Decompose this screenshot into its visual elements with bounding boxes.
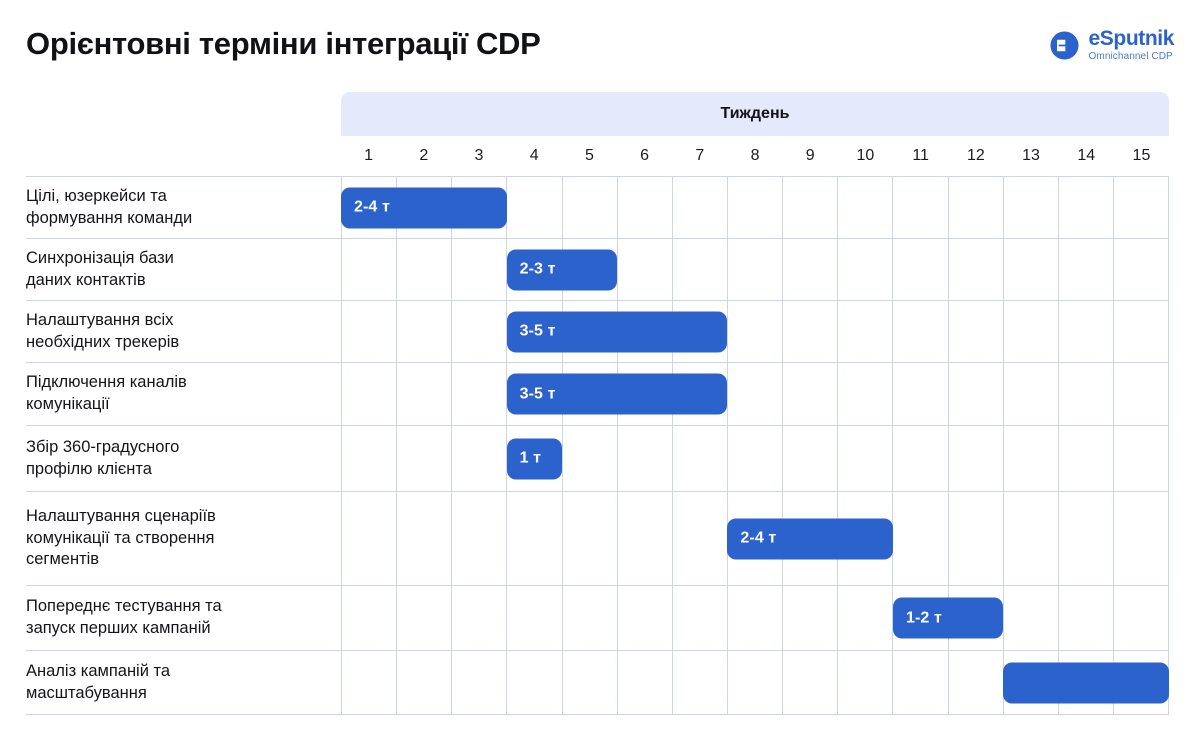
task-row-label: Налаштування сценаріївкомунікації та ств… <box>26 491 341 585</box>
grid-cell <box>949 239 1004 300</box>
task-label: Аналіз кампаній тамасштабування <box>26 661 170 705</box>
grid-cell <box>397 426 452 491</box>
grid-cell <box>1114 586 1169 650</box>
grid-cell <box>1004 492 1059 585</box>
grid-cell <box>673 651 728 714</box>
grid-cell <box>949 363 1004 425</box>
grid-cell <box>618 586 673 650</box>
grid-cell <box>728 363 783 425</box>
week-tick-cells: 123456789101112131415 <box>341 136 1169 176</box>
week-tick-4: 4 <box>507 136 562 176</box>
brand-name: eSputnik <box>1089 28 1174 49</box>
grid-cell <box>507 492 562 585</box>
gantt-row: 1-2 т <box>341 585 1169 650</box>
task-label-line: Налаштування всіх <box>26 310 179 332</box>
grid-cell <box>838 239 893 300</box>
gantt-bar[interactable]: 1 т <box>507 438 562 479</box>
task-label-column: Цілі, юзеркейси таформування командиСинх… <box>26 176 341 715</box>
grid-cell <box>1114 426 1169 491</box>
task-label: Збір 360-градусногопрофілю клієнта <box>26 437 179 481</box>
grid-lines <box>341 586 1169 650</box>
grid-cell <box>507 651 562 714</box>
task-row-label: Синхронізація базиданих контактів <box>26 238 341 300</box>
grid-cell <box>838 651 893 714</box>
gantt-row: 2-4 т <box>341 176 1169 238</box>
gantt-bar-label: 2-4 т <box>740 530 776 548</box>
page-title: Орієнтовні терміни інтеграції CDP <box>26 26 541 62</box>
gantt-row: 3-5 т <box>341 300 1169 362</box>
grid-cell <box>563 177 618 238</box>
grid-cell <box>341 492 397 585</box>
grid-cell <box>1114 363 1169 425</box>
task-label-line: Попереднє тестування та <box>26 596 222 618</box>
grid-cell <box>949 651 1004 714</box>
grid-cell <box>618 177 673 238</box>
grid-cell <box>783 239 838 300</box>
gantt-bar-label: 2-4 т <box>354 199 390 217</box>
grid-cell <box>949 426 1004 491</box>
gantt-header-row: Тиждень <box>26 92 1169 136</box>
grid-cell <box>1004 301 1059 362</box>
grid-cell <box>728 586 783 650</box>
grid-lines <box>341 426 1169 491</box>
grid-lines <box>341 301 1169 362</box>
grid-cell <box>838 586 893 650</box>
week-tick-5: 5 <box>562 136 617 176</box>
task-label: Цілі, юзеркейси таформування команди <box>26 186 192 230</box>
grid-cell <box>563 586 618 650</box>
grid-lines <box>341 363 1169 425</box>
esputnik-logo-icon <box>1048 29 1081 62</box>
gantt-bar[interactable] <box>1003 662 1169 703</box>
gantt-bar-label: 3-5 т <box>520 385 556 403</box>
grid-cell <box>1114 301 1169 362</box>
task-label-line: Збір 360-градусного <box>26 437 179 459</box>
task-label-line: комунікації <box>26 394 187 416</box>
task-label-line: масштабування <box>26 683 170 705</box>
task-label-line: Підключення каналів <box>26 372 187 394</box>
gantt-bar-label: 2-3 т <box>520 261 556 279</box>
task-row-label: Цілі, юзеркейси таформування команди <box>26 176 341 238</box>
grid-cell <box>728 239 783 300</box>
grid-cell <box>838 301 893 362</box>
grid-cell <box>397 239 452 300</box>
task-label: Попереднє тестування тазапуск перших кам… <box>26 596 222 640</box>
grid-cell <box>728 426 783 491</box>
gantt-bar[interactable]: 2-3 т <box>507 249 617 290</box>
gantt-row: 2-3 т <box>341 238 1169 300</box>
grid-cell <box>452 239 507 300</box>
week-tick-10: 10 <box>838 136 893 176</box>
tick-spacer <box>26 136 341 176</box>
gantt-row: 1 т <box>341 425 1169 491</box>
task-label-line: Цілі, юзеркейси та <box>26 186 192 208</box>
week-tick-15: 15 <box>1114 136 1169 176</box>
week-tick-12: 12 <box>948 136 1003 176</box>
gantt-bar[interactable]: 1-2 т <box>893 598 1003 639</box>
grid-cell <box>728 301 783 362</box>
grid-cell <box>893 177 948 238</box>
week-tick-3: 3 <box>451 136 506 176</box>
grid-cell <box>893 492 948 585</box>
gantt-row: 2-4 т <box>341 491 1169 585</box>
grid-cell <box>397 586 452 650</box>
grid-cell <box>783 363 838 425</box>
grid-cell <box>1059 239 1114 300</box>
task-label: Налаштування всіхнеобхідних трекерів <box>26 310 179 354</box>
grid-cell <box>838 177 893 238</box>
grid-cell <box>563 426 618 491</box>
task-label: Підключення каналівкомунікації <box>26 372 187 416</box>
week-tick-8: 8 <box>727 136 782 176</box>
task-row-label: Попереднє тестування тазапуск перших кам… <box>26 585 341 650</box>
grid-cell <box>341 586 397 650</box>
grid-cell <box>893 426 948 491</box>
grid-cell <box>1114 239 1169 300</box>
task-label: Налаштування сценаріївкомунікації та ств… <box>26 506 216 571</box>
task-label-line: комунікації та створення <box>26 528 216 550</box>
task-label-line: профілю клієнта <box>26 459 179 481</box>
gantt-plot-area: 2-4 т2-3 т3-5 т3-5 т1 т2-4 т1-2 т <box>341 176 1169 715</box>
grid-cell <box>1004 239 1059 300</box>
grid-cell <box>341 239 397 300</box>
task-row-label: Налаштування всіхнеобхідних трекерів <box>26 300 341 362</box>
grid-cell <box>618 492 673 585</box>
gantt-bar-label: 3-5 т <box>520 323 556 341</box>
grid-cell <box>563 492 618 585</box>
gantt-bar[interactable]: 3-5 т <box>507 374 728 415</box>
grid-cell <box>341 651 397 714</box>
week-tick-7: 7 <box>672 136 727 176</box>
gantt-row: 3-5 т <box>341 362 1169 425</box>
grid-cell <box>452 651 507 714</box>
grid-cell <box>783 651 838 714</box>
grid-cell <box>1059 177 1114 238</box>
task-label-line: Синхронізація бази <box>26 248 174 270</box>
gantt-table: Тиждень 123456789101112131415 Цілі, юзер… <box>26 92 1169 715</box>
brand-tagline: Omnichannel CDP <box>1089 52 1174 62</box>
grid-cell <box>893 363 948 425</box>
grid-cell <box>838 363 893 425</box>
task-label-line: запуск перших кампаній <box>26 618 222 640</box>
week-tick-1: 1 <box>341 136 396 176</box>
task-label-line: даних контактів <box>26 270 174 292</box>
header-spacer <box>26 92 341 136</box>
gantt-bar[interactable]: 2-4 т <box>341 187 507 228</box>
grid-cell <box>783 586 838 650</box>
grid-cell <box>341 301 397 362</box>
grid-cell <box>397 492 452 585</box>
weeks-header-label: Тиждень <box>721 105 790 123</box>
grid-cell <box>673 586 728 650</box>
week-tick-11: 11 <box>893 136 948 176</box>
grid-cell <box>1004 363 1059 425</box>
grid-cell <box>728 651 783 714</box>
task-row-label: Збір 360-градусногопрофілю клієнта <box>26 425 341 491</box>
grid-cell <box>893 301 948 362</box>
grid-cell <box>1059 363 1114 425</box>
grid-cell <box>507 586 562 650</box>
grid-cell <box>452 363 507 425</box>
grid-cell <box>452 426 507 491</box>
grid-cell <box>673 239 728 300</box>
grid-cell <box>1114 177 1169 238</box>
brand-logo: eSputnik Omnichannel CDP <box>1048 28 1174 62</box>
grid-cell <box>618 651 673 714</box>
grid-cell <box>1059 426 1114 491</box>
grid-cell <box>783 177 838 238</box>
grid-cell <box>728 177 783 238</box>
week-tick-13: 13 <box>1003 136 1058 176</box>
week-tick-9: 9 <box>783 136 838 176</box>
grid-cell <box>452 492 507 585</box>
gantt-bar[interactable]: 3-5 т <box>507 311 728 352</box>
grid-cell <box>838 426 893 491</box>
grid-cell <box>397 363 452 425</box>
task-label-line: необхідних трекерів <box>26 332 179 354</box>
gantt-bar-label: 1-2 т <box>906 609 942 627</box>
gantt-bar[interactable]: 2-4 т <box>727 518 893 559</box>
grid-cell <box>673 426 728 491</box>
week-tick-6: 6 <box>617 136 672 176</box>
grid-cell <box>1114 492 1169 585</box>
grid-cell <box>1059 586 1114 650</box>
gantt-bar-label: 1 т <box>520 450 541 468</box>
grid-cell <box>341 363 397 425</box>
grid-cell <box>452 586 507 650</box>
grid-cell <box>783 301 838 362</box>
gantt-body: Цілі, юзеркейси таформування командиСинх… <box>26 176 1169 715</box>
task-label-line: Налаштування сценаріїв <box>26 506 216 528</box>
task-label-line: формування команди <box>26 208 192 230</box>
grid-cell <box>893 651 948 714</box>
task-row-label: Підключення каналівкомунікації <box>26 362 341 425</box>
week-tick-2: 2 <box>396 136 451 176</box>
grid-cell <box>618 426 673 491</box>
weeks-header: Тиждень <box>341 92 1169 136</box>
task-row-label: Аналіз кампаній тамасштабування <box>26 650 341 715</box>
task-label: Синхронізація базиданих контактів <box>26 248 174 292</box>
grid-cell <box>673 492 728 585</box>
grid-cell <box>1059 301 1114 362</box>
grid-cell <box>341 426 397 491</box>
grid-cell <box>783 426 838 491</box>
grid-cell <box>673 177 728 238</box>
grid-cell <box>397 301 452 362</box>
task-label-line: сегментів <box>26 549 216 571</box>
grid-cell <box>1004 426 1059 491</box>
gantt-chart-page: Орієнтовні терміни інтеграції CDP eSputn… <box>0 0 1200 743</box>
task-label-line: Аналіз кампаній та <box>26 661 170 683</box>
grid-cell <box>949 177 1004 238</box>
grid-cell <box>452 301 507 362</box>
grid-cell <box>949 492 1004 585</box>
grid-cell <box>1004 586 1059 650</box>
grid-cell <box>893 239 948 300</box>
week-tick-row: 123456789101112131415 <box>26 136 1169 176</box>
grid-cell <box>1059 492 1114 585</box>
grid-cell <box>618 239 673 300</box>
gantt-row <box>341 650 1169 715</box>
grid-cell <box>507 177 562 238</box>
grid-cell <box>397 651 452 714</box>
grid-cell <box>949 301 1004 362</box>
grid-cell <box>563 651 618 714</box>
grid-lines <box>341 239 1169 300</box>
week-tick-14: 14 <box>1059 136 1114 176</box>
grid-cell <box>1004 177 1059 238</box>
